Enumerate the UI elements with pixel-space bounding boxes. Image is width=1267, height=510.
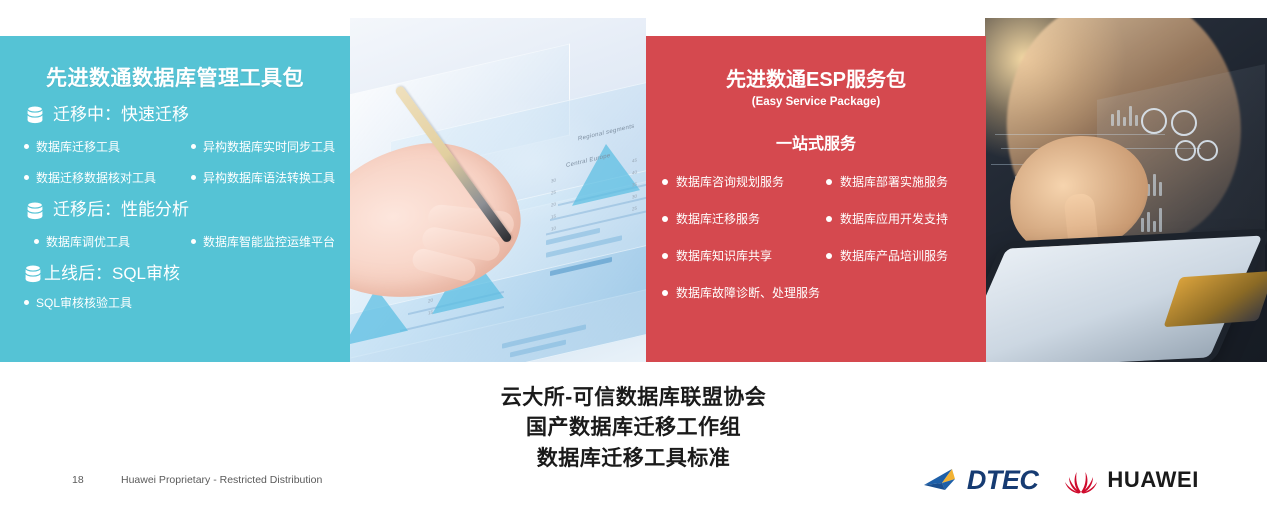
list-item: 数据库迁移工具 xyxy=(18,138,177,155)
ring-graphic xyxy=(1171,110,1197,136)
list-item: 数据库部署实施服务 xyxy=(816,173,970,190)
bullet-icon xyxy=(191,239,196,244)
hand-writing-on-analytics-report-photo: Regional segments Central Europe West Eu… xyxy=(350,18,646,362)
list-item: 数据库智能监控运维平台 xyxy=(177,233,336,250)
mini-bar xyxy=(1129,106,1132,126)
mini-bar xyxy=(1147,212,1150,232)
proprietary-notice: Huawei Proprietary - Restricted Distribu… xyxy=(121,474,322,486)
dtec-logo: DTEC xyxy=(922,466,1039,494)
red-bullet-list: 数据库咨询规划服务 数据库部署实施服务 数据库迁移服务 数据库应用开发支持 数据… xyxy=(662,173,970,321)
list-item-label: 数据库应用开发支持 xyxy=(840,210,948,227)
mini-bar xyxy=(1135,115,1138,126)
database-icon xyxy=(24,264,42,284)
slide-footer: 18 Huawei Proprietary - Restricted Distr… xyxy=(0,464,1267,510)
mini-bar xyxy=(1159,182,1162,196)
list-item: 数据库产品培训服务 xyxy=(816,247,970,264)
list-item-label: 数据库产品培训服务 xyxy=(840,247,948,264)
credit-card xyxy=(1163,271,1267,327)
list-item: 数据库知识库共享 xyxy=(662,247,816,264)
bullet-icon xyxy=(662,253,668,259)
bullet-icon xyxy=(24,144,29,149)
teal-bullet-list-performance: 数据库调优工具 数据库智能监控运维平台 xyxy=(14,233,336,264)
teal-bullet-list-migration: 数据库迁移工具 异构数据库实时同步工具 数据迁移数据核对工具 异构数据库语法转换… xyxy=(14,138,336,200)
list-item-label: 数据库部署实施服务 xyxy=(840,173,948,190)
bullet-icon xyxy=(662,216,668,222)
bullet-icon xyxy=(826,179,832,185)
list-item: 异构数据库实时同步工具 xyxy=(177,138,336,155)
bullet-icon xyxy=(24,175,29,180)
page-title: 云大所-可信数据库联盟协会 国产数据库迁移工作组 数据库迁移工具标准 xyxy=(0,383,1267,474)
mini-bar xyxy=(1123,117,1126,126)
bullet-icon xyxy=(24,300,29,305)
mini-bar xyxy=(1141,218,1144,232)
database-icon xyxy=(26,201,44,221)
list-item-label: 数据库迁移服务 xyxy=(676,210,760,227)
bullet-icon xyxy=(662,179,668,185)
list-item-label: 数据库迁移工具 xyxy=(36,138,120,155)
mini-bar xyxy=(1159,208,1162,232)
slide-root: Regional segments Central Europe West Eu… xyxy=(0,0,1267,510)
page-title-line-2: 国产数据库迁移工作组 xyxy=(0,413,1267,443)
database-toolkit-panel: 先进数通数据库管理工具包 迁移中：快速迁移 数据库迁移工具 异构数据库实时同步工… xyxy=(0,36,350,362)
bullet-icon xyxy=(826,216,832,222)
ring-graphic xyxy=(1197,140,1218,161)
mini-bar xyxy=(1117,110,1120,126)
database-icon xyxy=(26,105,44,125)
list-item-label: 数据库知识库共享 xyxy=(676,247,772,264)
page-title-line-1: 云大所-可信数据库联盟协会 xyxy=(0,383,1267,413)
bullet-icon xyxy=(34,239,39,244)
banner-strip: Regional segments Central Europe West Eu… xyxy=(0,18,1267,362)
teal-section-heading-label: 上线后：SQL审核 xyxy=(44,264,180,284)
mini-bar xyxy=(1111,114,1114,126)
huawei-flower-icon xyxy=(1064,466,1098,494)
ring-graphic xyxy=(1141,108,1167,134)
red-panel-subtitle: (Easy Service Package) xyxy=(662,96,970,108)
teal-section-heading-performance: 迁移后：性能分析 xyxy=(26,200,336,220)
list-item: 数据库应用开发支持 xyxy=(816,210,970,227)
teal-panel-title: 先进数通数据库管理工具包 xyxy=(14,62,336,92)
footer-logos: DTEC HUAWEI xyxy=(922,466,1199,494)
bullet-icon xyxy=(191,175,196,180)
dtec-wordmark: DTEC xyxy=(967,467,1039,494)
list-item: 异构数据库语法转换工具 xyxy=(177,169,336,186)
teal-bullet-list-sql-review: SQL审核核验工具 xyxy=(14,294,336,325)
teal-section-heading-sql-review: 上线后：SQL审核 xyxy=(24,264,336,284)
list-item-label: SQL审核核验工具 xyxy=(36,294,132,311)
dtec-arrow-icon xyxy=(922,466,966,494)
list-item: 数据库调优工具 xyxy=(18,233,177,250)
list-item: SQL审核核验工具 xyxy=(18,294,336,311)
finger-touching-tablet-data-photo xyxy=(985,18,1267,362)
list-item-label: 数据库智能监控运维平台 xyxy=(203,233,335,250)
mini-bar xyxy=(1153,174,1156,196)
mini-bar xyxy=(1153,221,1156,232)
huawei-logo: HUAWEI xyxy=(1064,466,1199,494)
list-item: 数据库迁移服务 xyxy=(662,210,816,227)
teal-section-heading-label: 迁移中：快速迁移 xyxy=(53,105,189,125)
list-item-label: 数据库调优工具 xyxy=(46,233,130,250)
list-item-label: 数据库咨询规划服务 xyxy=(676,173,784,190)
list-item: 数据迁移数据核对工具 xyxy=(18,169,177,186)
teal-section-heading-label: 迁移后：性能分析 xyxy=(53,200,189,220)
bullet-icon xyxy=(826,253,832,259)
bullet-icon xyxy=(191,144,196,149)
ring-graphic xyxy=(1175,140,1196,161)
huawei-wordmark: HUAWEI xyxy=(1107,469,1199,491)
page-number: 18 xyxy=(72,474,84,486)
list-item-label: 数据迁移数据核对工具 xyxy=(36,169,156,186)
list-item: 数据库故障诊断、处理服务 xyxy=(662,284,970,301)
teal-section-heading-migration: 迁移中：快速迁移 xyxy=(26,105,336,125)
bullet-icon xyxy=(662,290,668,296)
red-panel-section-heading: 一站式服务 xyxy=(662,130,970,154)
list-item-label: 数据库故障诊断、处理服务 xyxy=(676,284,820,301)
list-item-label: 异构数据库实时同步工具 xyxy=(203,138,335,155)
red-panel-title: 先进数通ESP服务包 xyxy=(662,63,970,92)
esp-service-package-panel: 先进数通ESP服务包 (Easy Service Package) 一站式服务 … xyxy=(646,36,986,362)
list-item-label: 异构数据库语法转换工具 xyxy=(203,169,335,186)
list-item: 数据库咨询规划服务 xyxy=(662,173,816,190)
